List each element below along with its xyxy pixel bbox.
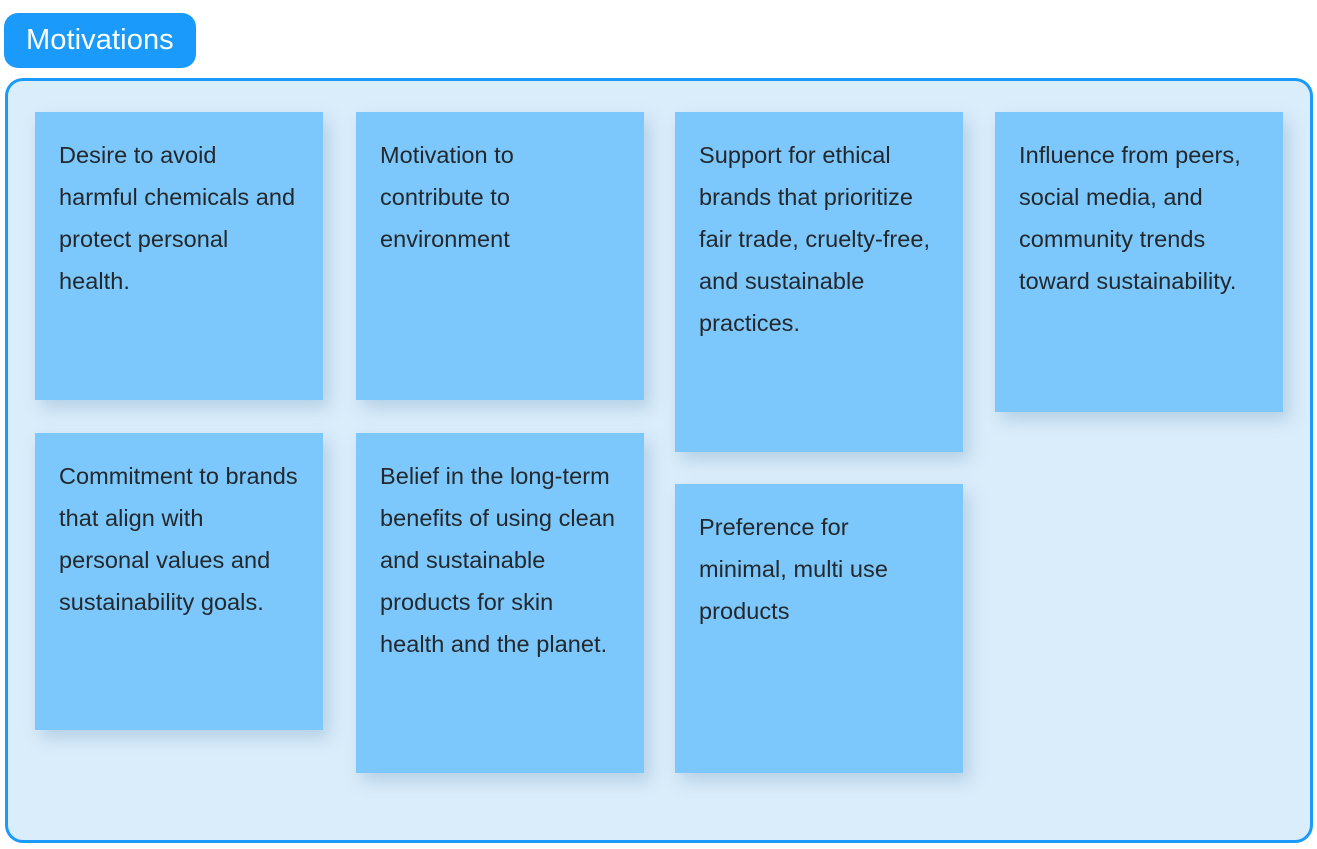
sticky-note-text: Support for ethical brands that prioriti… — [699, 134, 939, 344]
sticky-note-text: Desire to avoid harmful chemicals and pr… — [59, 134, 299, 302]
sticky-note-text: Influence from peers, social media, and … — [1019, 134, 1259, 302]
group-title-pill[interactable]: Motivations — [4, 13, 196, 68]
sticky-note[interactable]: Motivation to contribute to environment — [356, 112, 644, 400]
sticky-note-text: Motivation to contribute to environment — [380, 134, 620, 260]
motivations-board: Motivations Desire to avoid harmful chem… — [0, 0, 1317, 849]
sticky-note[interactable]: Support for ethical brands that prioriti… — [675, 112, 963, 452]
sticky-note-text: Commitment to brands that align with per… — [59, 455, 299, 623]
sticky-note[interactable]: Belief in the long-term benefits of usin… — [356, 433, 644, 773]
sticky-note[interactable]: Desire to avoid harmful chemicals and pr… — [35, 112, 323, 400]
sticky-note-text: Preference for minimal, multi use produc… — [699, 506, 939, 632]
group-title-label: Motivations — [26, 26, 174, 55]
sticky-note[interactable]: Commitment to brands that align with per… — [35, 433, 323, 730]
sticky-note[interactable]: Influence from peers, social media, and … — [995, 112, 1283, 412]
sticky-note[interactable]: Preference for minimal, multi use produc… — [675, 484, 963, 773]
sticky-note-text: Belief in the long-term benefits of usin… — [380, 455, 620, 665]
